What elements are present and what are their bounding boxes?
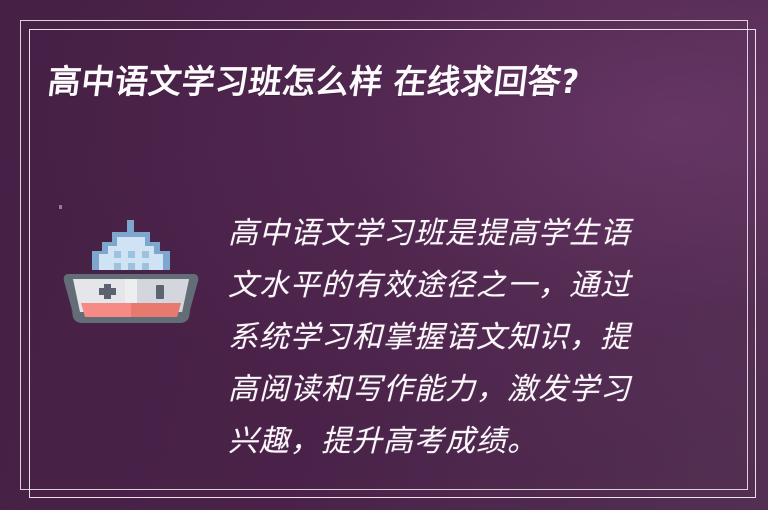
body-paragraph: 高中语文学习班是提高学生语文水平的有效途径之一，通过系统学习和掌握语文知识，提高…: [228, 208, 658, 468]
ship-icon: [62, 218, 200, 346]
page-title: 高中语文学习班怎么样 在线求回答?: [45, 57, 671, 106]
poster-content: 高中语文学习班怎么样 在线求回答?: [0, 0, 768, 510]
dust-speck-artifact: [59, 205, 62, 209]
